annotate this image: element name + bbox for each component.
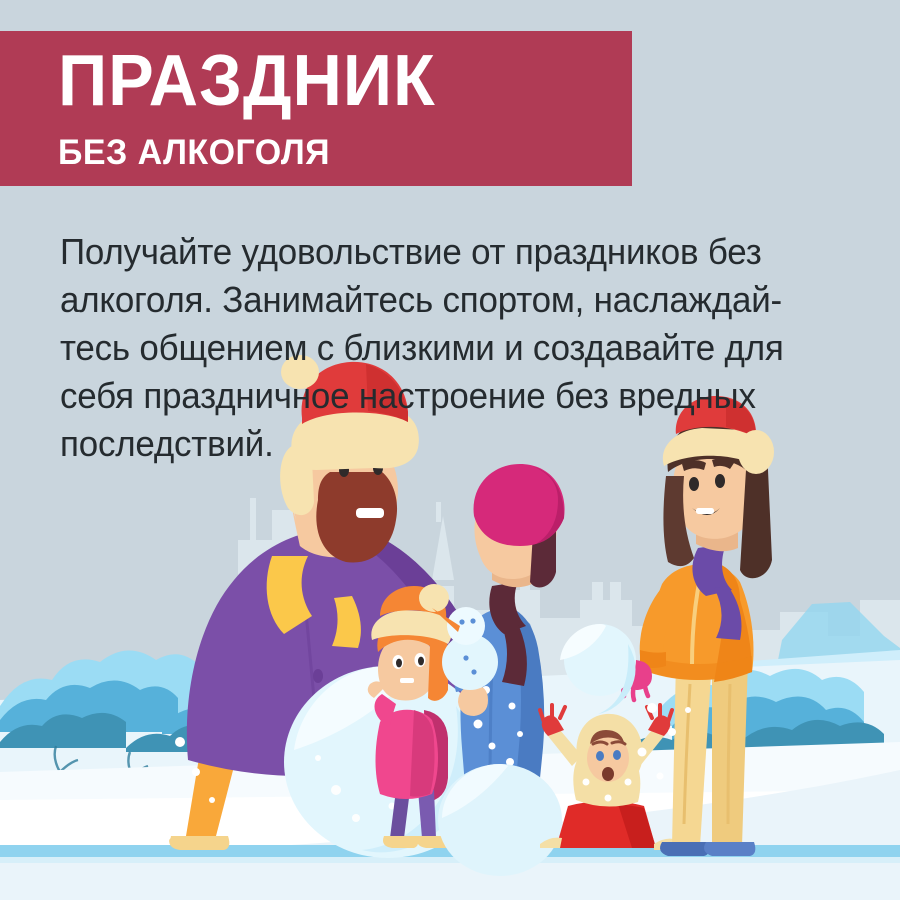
man-foot-back — [169, 836, 229, 850]
snowball-ground-mid — [438, 764, 562, 876]
body-paragraph: Получайте удовольствие от праздников без… — [60, 228, 836, 468]
body-line-2: алкоголя. Занимайтесь спортом, наслаждай… — [60, 276, 836, 324]
girl-hat-pompom — [419, 584, 449, 612]
body-line-3: тесь общением с близкими и создавайте дл… — [60, 324, 836, 372]
baby-mouth — [602, 767, 614, 781]
body-line-4: себя праздничное настроение без вредных — [60, 372, 836, 420]
baby-eye-left — [596, 751, 604, 761]
woman-orange-shoe-back — [660, 842, 709, 856]
ground-line-stripe-soft — [0, 857, 900, 863]
girl-boot-back — [383, 836, 419, 848]
body-line-5: последствий. — [60, 420, 836, 468]
body-line-1: Получайте удовольствие от праздников без — [60, 228, 836, 276]
woman-orange-eye-right — [715, 474, 725, 488]
poster-canvas: ПРАЗДНИК БЕЗ АЛКОГОЛЯ Получайте удовольс… — [0, 0, 900, 900]
page-title: ПРАЗДНИК — [58, 45, 436, 117]
page-subtitle: БЕЗ АЛКОГОЛЯ — [58, 135, 330, 170]
woman-orange-shoe-front — [704, 842, 755, 856]
header-banner: ПРАЗДНИК БЕЗ АЛКОГОЛЯ — [0, 31, 632, 186]
woman-orange-eye-left — [689, 477, 699, 491]
baby-eye-right — [613, 750, 621, 760]
man-teeth — [356, 508, 384, 518]
